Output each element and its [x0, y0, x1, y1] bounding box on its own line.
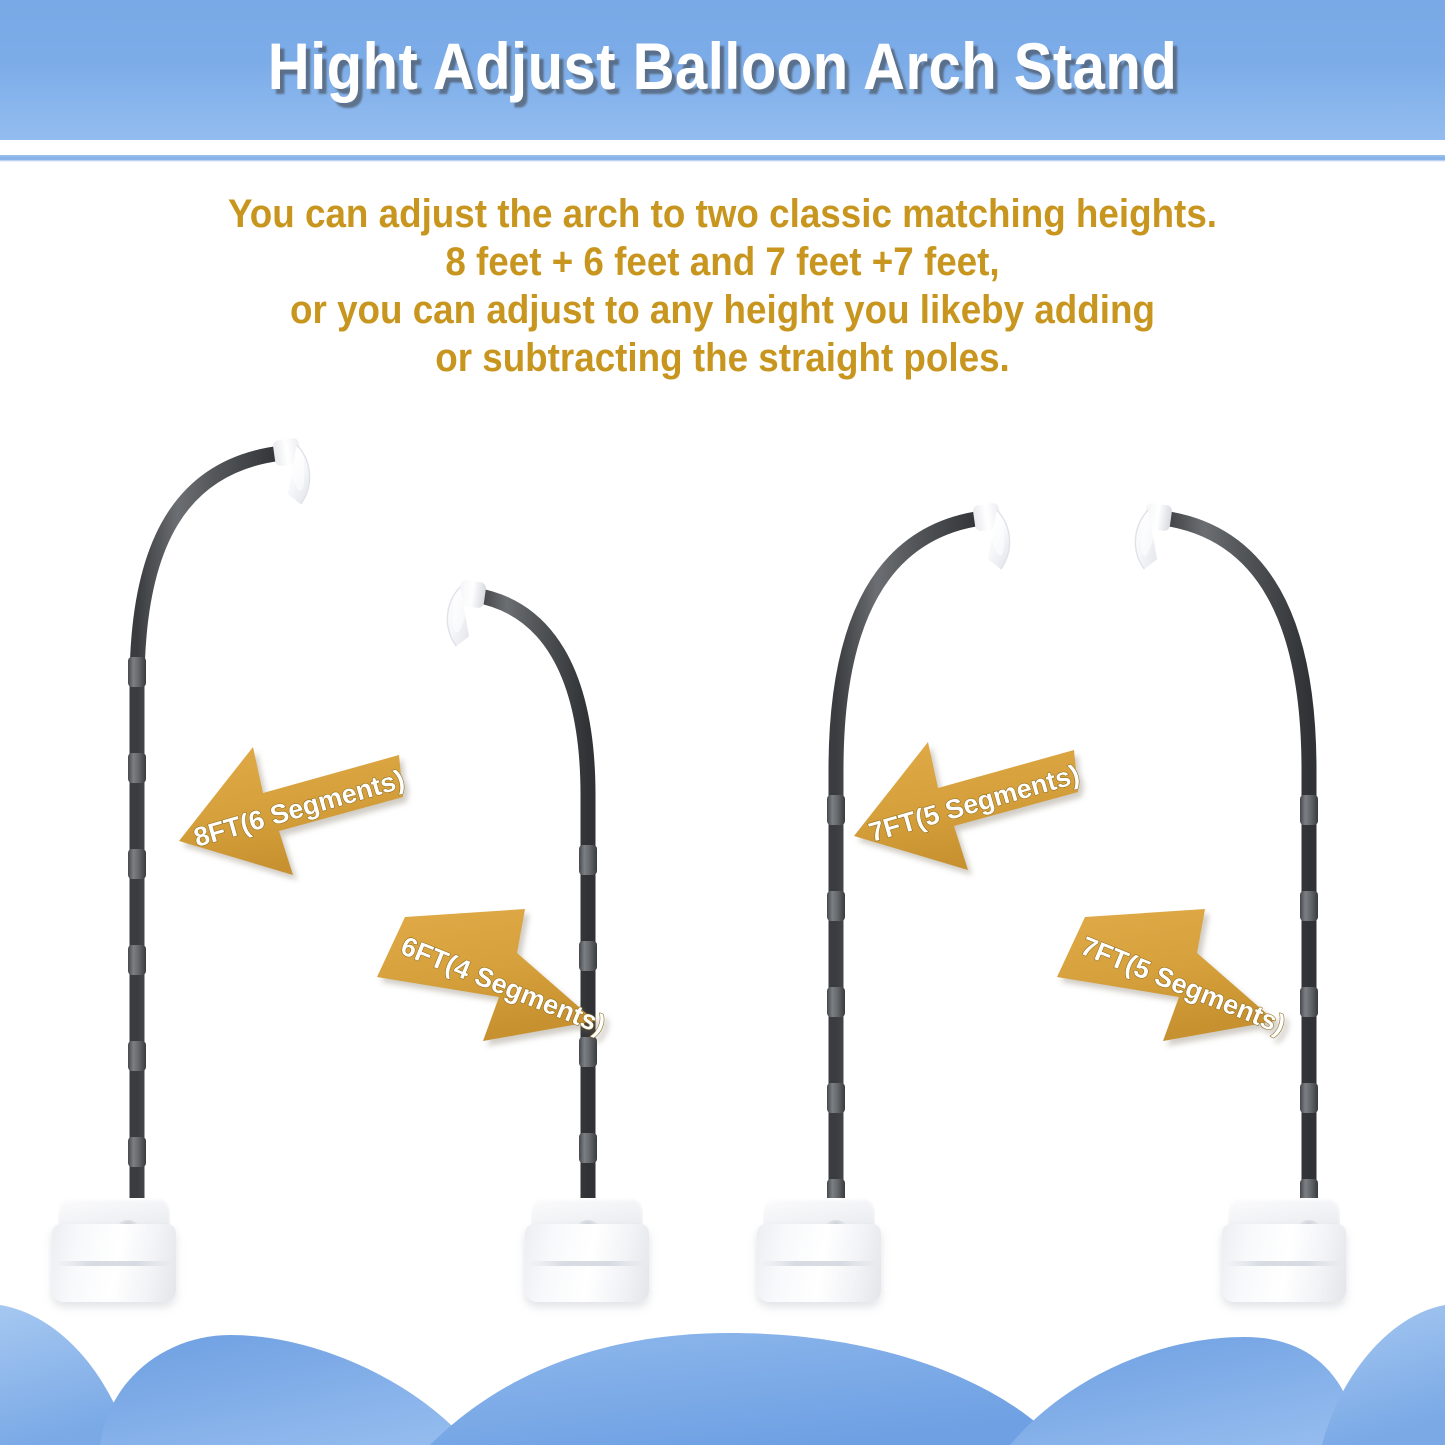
subtitle-line-3: or you can adjust to any height you like…: [58, 286, 1387, 334]
arrow-8ft: 8FT(6 Segments): [175, 735, 405, 880]
arrow-7ft-left: 7FT(5 Segments): [850, 730, 1080, 875]
subtitle-line-2: 8 feet + 6 feet and 7 feet +7 feet,: [58, 238, 1387, 286]
wave-petal-right: [1010, 1337, 1360, 1445]
pole-shaft: [1163, 518, 1309, 1233]
wave-petal-center: [430, 1333, 1060, 1445]
base-seam: [56, 1261, 172, 1266]
pole-shaft: [836, 518, 982, 1233]
header-white-gap: [0, 140, 1445, 155]
base-stand-7ft-left: [757, 1198, 881, 1302]
stand-7ft-right-graphic: [1085, 470, 1385, 1235]
stand-7ft-right: [1085, 470, 1385, 1235]
arrow-7ft-right-shape: 7FT(5 Segments): [1055, 905, 1280, 1045]
bottom-wave-shape: [0, 1305, 1445, 1445]
base-seam: [529, 1261, 645, 1266]
header-accent-rule: [0, 155, 1445, 162]
bottom-wave-decoration: [0, 1305, 1445, 1445]
wave-petal-left: [100, 1335, 470, 1445]
arrow-7ft-right: 7FT(5 Segments): [1055, 905, 1280, 1045]
page-title: Hight Adjust Balloon Arch Stand: [87, 28, 1359, 104]
arrow-8ft-shape: 8FT(6 Segments): [175, 735, 405, 880]
subtitle-line-1: You can adjust the arch to two classic m…: [58, 190, 1387, 238]
base-stand-7ft-right: [1222, 1198, 1346, 1302]
arrow-7ft-left-shape: 7FT(5 Segments): [850, 730, 1080, 875]
subtitle-block: You can adjust the arch to two classic m…: [58, 190, 1387, 382]
stand-6ft-graphic: [415, 545, 665, 1235]
base-seam: [761, 1261, 877, 1266]
stand-6ft: [415, 545, 665, 1235]
arrow-6ft-shape: 6FT(4 Segments): [375, 905, 600, 1045]
infographic-page: Hight Adjust Balloon Arch Stand You can …: [0, 0, 1445, 1445]
base-seam: [1226, 1261, 1342, 1266]
base-stand-8ft: [52, 1198, 176, 1302]
wave-petal-right-outer: [1322, 1305, 1445, 1445]
base-stand-6ft: [525, 1198, 649, 1302]
arrow-6ft: 6FT(4 Segments): [375, 905, 600, 1045]
subtitle-line-4: or subtracting the straight poles.: [58, 334, 1387, 382]
